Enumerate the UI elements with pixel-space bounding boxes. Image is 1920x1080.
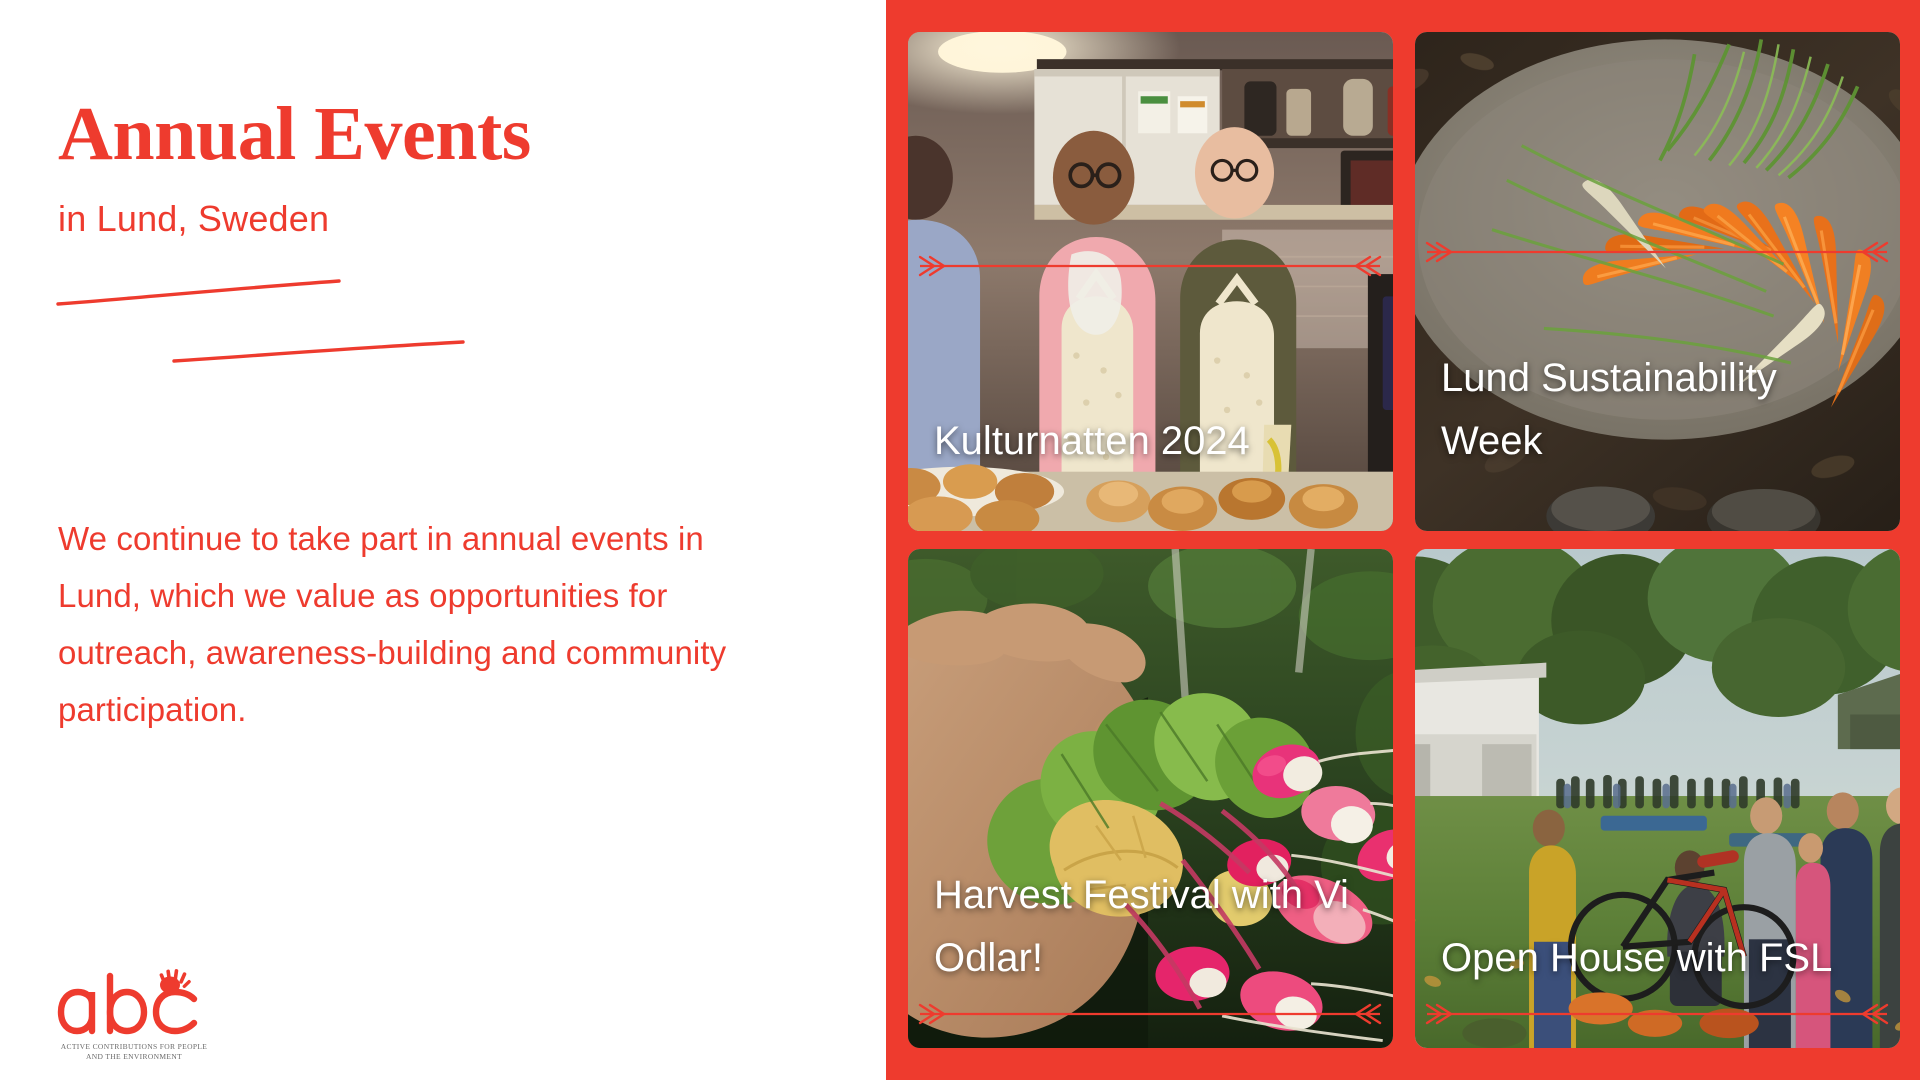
page-subtitle: in Lund, Sweden — [58, 198, 329, 240]
arrow-divider-icon — [1423, 240, 1891, 264]
photo-card-harvest-festival[interactable]: Harvest Festival with Vi Odlar! — [908, 549, 1393, 1048]
card-caption-sustainability-week: Lund Sustainability Week — [1441, 347, 1882, 473]
right-photo-panel: Kulturnatten 2024 — [886, 0, 1920, 1080]
arrow-divider-icon — [1423, 1002, 1891, 1026]
slide-root: Annual Events in Lund, Sweden We continu… — [0, 0, 1920, 1080]
card-caption-open-house-fsl: Open House with FSL — [1441, 927, 1882, 990]
card-caption-harvest-festival: Harvest Festival with Vi Odlar! — [934, 864, 1375, 990]
card-caption-kulturnatten: Kulturnatten 2024 — [934, 410, 1375, 473]
body-paragraph: We continue to take part in annual event… — [58, 510, 738, 738]
hand-drawn-rule-top-icon — [56, 278, 342, 308]
abc-logo-tagline: Active contributions for people and the … — [54, 1042, 214, 1062]
page-title: Annual Events — [58, 92, 531, 176]
photo-card-grid: Kulturnatten 2024 — [908, 32, 1900, 1048]
arrow-divider-icon — [916, 254, 1384, 278]
photo-card-kulturnatten[interactable]: Kulturnatten 2024 — [908, 32, 1393, 531]
abc-wordmark-icon — [54, 968, 214, 1040]
left-content-panel: Annual Events in Lund, Sweden We continu… — [0, 0, 886, 1080]
arrow-divider-icon — [916, 1002, 1384, 1026]
photo-card-open-house-fsl[interactable]: Open House with FSL — [1415, 549, 1900, 1048]
abc-logo: Active contributions for people and the … — [54, 968, 224, 1062]
hand-drawn-rule-bottom-icon — [172, 338, 466, 366]
photo-card-sustainability-week[interactable]: Lund Sustainability Week — [1415, 32, 1900, 531]
hand-splash-icon — [159, 969, 191, 994]
